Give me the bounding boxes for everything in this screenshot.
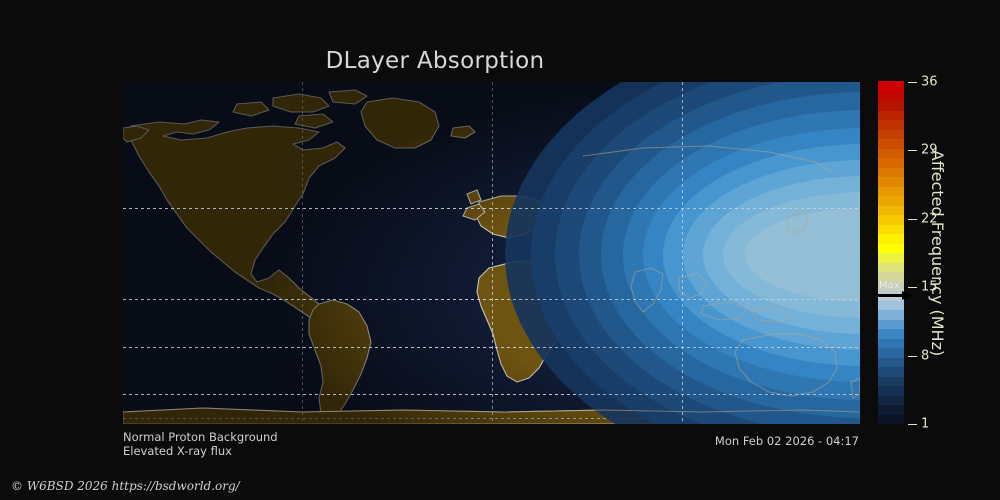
colorbar-max-marker: Max: [878, 280, 918, 302]
colorbar-band: [878, 205, 904, 215]
coastline-overlay: [123, 82, 860, 424]
dlayer-absorption-map-page: DLayer Absorption: [0, 0, 1000, 500]
colorbar-band: [878, 148, 904, 158]
colorbar-band: [878, 414, 904, 424]
colorbar-tick: [908, 82, 917, 83]
colorbar-band: [878, 157, 904, 167]
note-proton-background: Normal Proton Background: [123, 430, 278, 444]
timestamp: Mon Feb 02 2026 - 04:17: [715, 434, 859, 448]
colorbar-band: [878, 262, 904, 272]
copyright-notice: © W6BSD 2026 https://bsdworld.org/: [11, 479, 240, 493]
colorbar-band: [878, 395, 904, 405]
colorbar-band: [878, 186, 904, 196]
colorbar-max-label: Max: [879, 280, 900, 291]
colorbar-band: [878, 176, 904, 186]
colorbar-band: [878, 309, 904, 319]
graticule-lon-75e-top: [682, 82, 683, 424]
colorbar-band: [878, 167, 904, 177]
max-arrow-icon: [878, 291, 912, 300]
colorbar-band: [878, 243, 904, 253]
colorbar-band: [878, 233, 904, 243]
graticule-lat-0-top: [123, 347, 860, 348]
colorbar-band: [878, 319, 904, 329]
page-title: DLayer Absorption: [0, 48, 870, 74]
colorbar-band: [878, 129, 904, 139]
colorbar-band: [878, 138, 904, 148]
world-map-plot: [123, 82, 860, 424]
graticule-lat-65-top: [123, 208, 860, 209]
colorbar-band: [878, 385, 904, 395]
colorbar-band: [878, 100, 904, 110]
colorbar-tick: [908, 424, 917, 425]
colorbar-band: [878, 224, 904, 234]
colorbar-band: [878, 338, 904, 348]
colorbar-band: [878, 81, 904, 91]
colorbar-tick: [908, 356, 917, 357]
colorbar-band: [878, 376, 904, 386]
colorbar-band: [878, 366, 904, 376]
colorbar-band: [878, 91, 904, 101]
colorbar-band: [878, 214, 904, 224]
graticule-lat-n27-top: [123, 394, 860, 395]
colorbar-title: Affected Frequency (MHz): [924, 82, 950, 424]
colorbar-tick: [908, 150, 917, 151]
colorbar-band: [878, 252, 904, 262]
colorbar-band: [878, 404, 904, 414]
colorbar[interactable]: 1815222936: [878, 82, 904, 424]
colorbar-band: [878, 110, 904, 120]
colorbar-band: [878, 357, 904, 367]
graticule-lat-27-top: [123, 299, 860, 300]
colorbar-band: [878, 195, 904, 205]
colorbar-band: [878, 119, 904, 129]
note-xray-flux: Elevated X-ray flux: [123, 444, 232, 458]
colorbar-band: [878, 328, 904, 338]
colorbar-tick: [908, 219, 917, 220]
colorbar-band: [878, 347, 904, 357]
